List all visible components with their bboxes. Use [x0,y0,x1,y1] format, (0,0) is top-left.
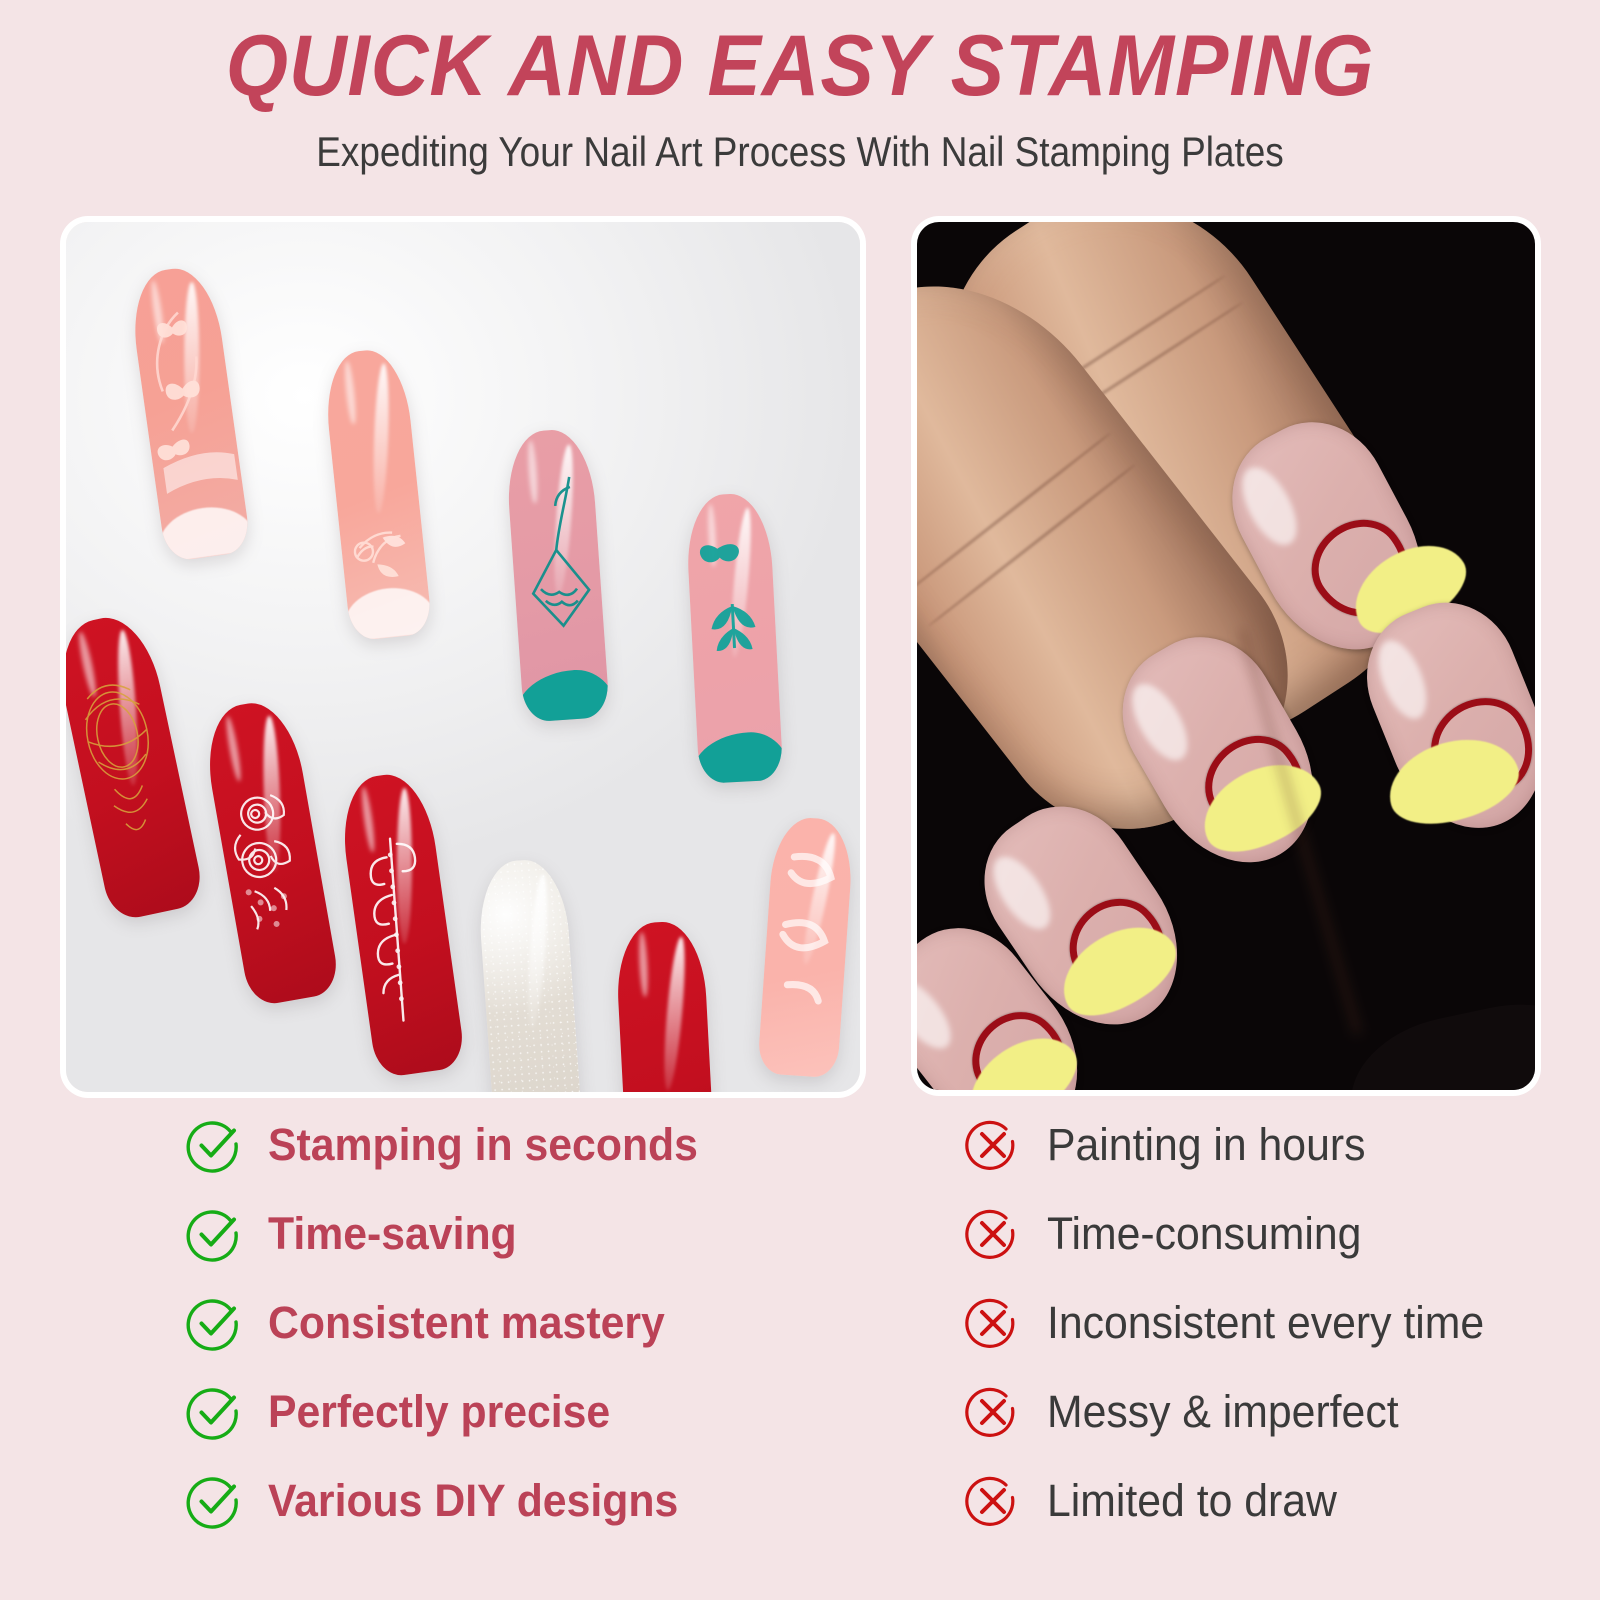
nail-red-white-rose-lace [199,696,342,1007]
list-item: Painting in hours [800,1100,1600,1189]
list-item-label: Time-consuming [1047,1208,1361,1260]
page-subtitle: Expediting Your Nail Art Process With Na… [96,126,1504,178]
finger-crease [917,431,1112,596]
white-swirl-stamp [757,816,855,1079]
list-item: Various DIY designs [0,1456,800,1545]
cross-circle-icon [965,1117,1021,1173]
nail-rose-teal-leaf [685,492,784,784]
list-item-label: Inconsistent every time [1047,1297,1484,1349]
comparison-lists: Stamping in seconds Time-saving Consiste… [0,1100,1600,1545]
nail-rose-teal-heart [504,427,610,722]
cross-circle-icon [965,1295,1021,1351]
nail-shine [917,971,962,1058]
list-item: Time-consuming [800,1189,1600,1278]
nail-silver-glitter [476,857,584,1092]
white-filigree-stamp [336,769,467,1079]
list-item-label: Limited to draw [1047,1475,1337,1527]
white-rose-lace-stamp [199,696,342,1007]
nail-pink-butterfly [126,263,252,562]
nail-shine [1232,459,1307,553]
nail-red-white-filigree [336,769,467,1079]
cross-circle-icon [965,1384,1021,1440]
nail-red-gold-lace [66,609,206,922]
cross-circle-icon [965,1206,1021,1262]
nail-red-gold-floral [614,920,717,1092]
nail-blush-swirl [757,816,855,1079]
check-circle-icon [186,1473,242,1529]
photo-row [0,222,1600,1094]
list-item: Inconsistent every time [800,1278,1600,1367]
list-item: Limited to draw [800,1456,1600,1545]
cons-column: Painting in hours Time-consuming Inconsi… [800,1100,1600,1545]
list-item-label: Perfectly precise [268,1386,610,1438]
list-item: Consistent mastery [0,1278,800,1367]
nail-gloss [524,874,550,1029]
list-item: Perfectly precise [0,1367,800,1456]
gold-lace-stamp [66,609,206,922]
nail-shine [982,847,1061,938]
check-circle-icon [186,1117,242,1173]
list-item-label: Painting in hours [1047,1119,1365,1171]
check-circle-icon [186,1206,242,1262]
check-circle-icon [186,1384,242,1440]
list-item: Stamping in seconds [0,1100,800,1189]
list-item-label: Messy & imperfect [1047,1386,1399,1438]
pros-column: Stamping in seconds Time-saving Consiste… [0,1100,800,1545]
cross-circle-icon [965,1473,1021,1529]
nail-shine [1369,634,1436,725]
finger-crease [927,463,1137,628]
dark-sleeve [1337,986,1535,1090]
list-item-label: Various DIY designs [268,1475,678,1527]
list-item-label: Time-saving [268,1208,517,1260]
nail-pink-rose [321,347,433,642]
list-item: Time-saving [0,1189,800,1278]
list-item: Messy & imperfect [800,1367,1600,1456]
page-title: QUICK AND EASY STAMPING [56,18,1544,114]
list-item-label: Stamping in seconds [268,1119,698,1171]
check-circle-icon [186,1295,242,1351]
list-item-label: Consistent mastery [268,1297,665,1349]
painted-hearts-photo [917,222,1535,1090]
header: QUICK AND EASY STAMPING Expediting Your … [0,0,1600,178]
stamped-nails-photo [66,222,860,1092]
gold-floral-stamp [614,920,717,1092]
